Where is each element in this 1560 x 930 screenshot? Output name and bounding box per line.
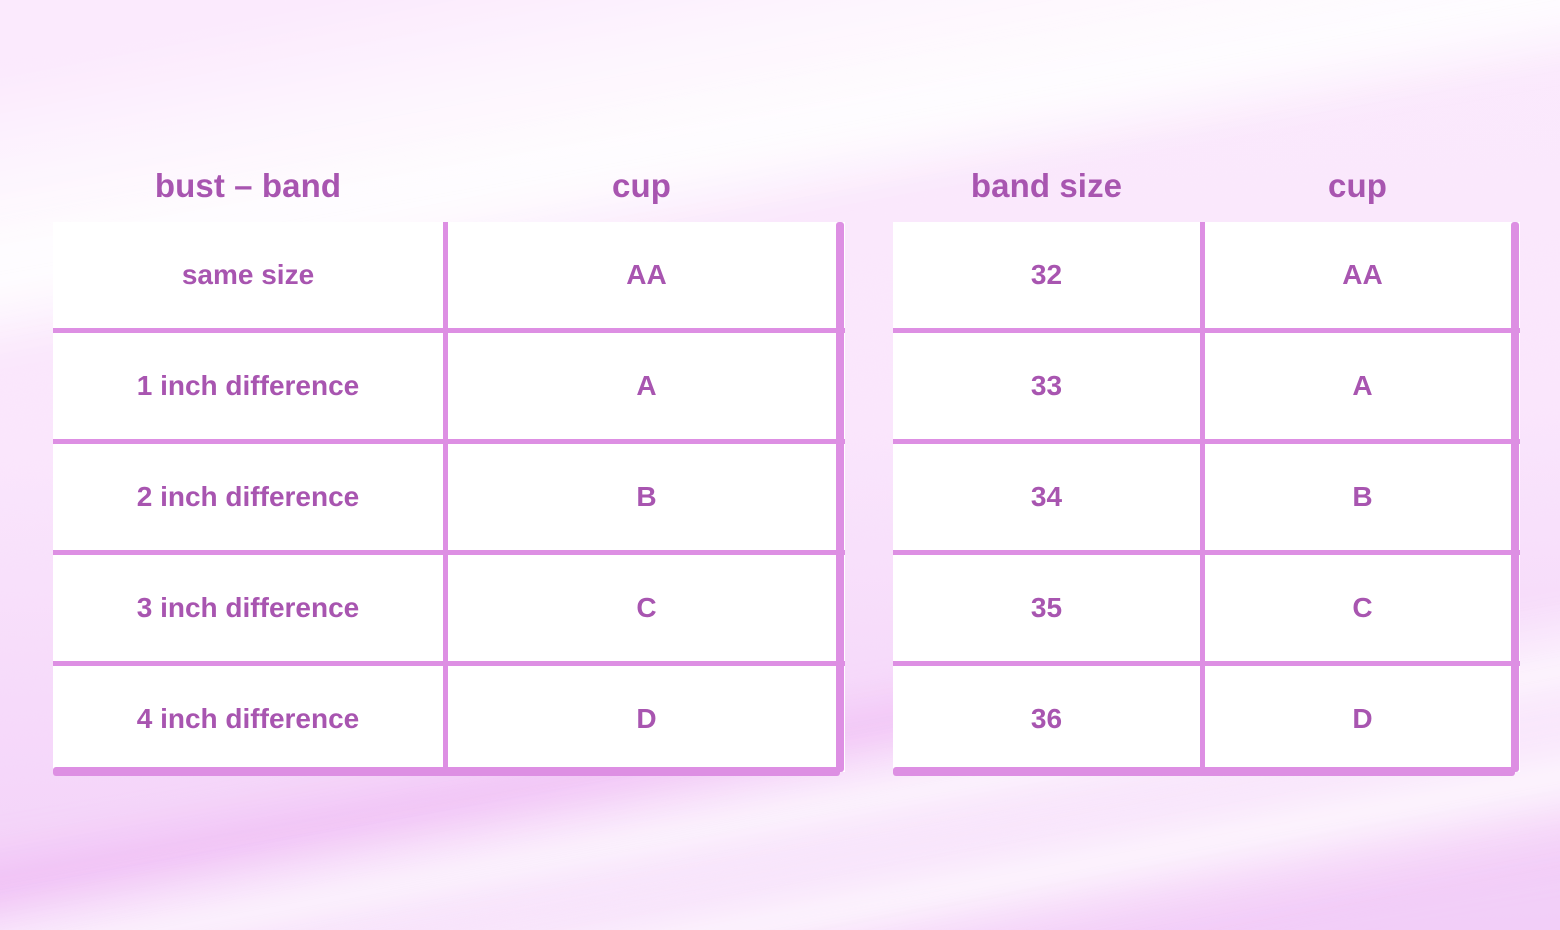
cell-bust-band-difference: 4 inch difference: [53, 664, 446, 773]
band-size-table-header: band size cup: [893, 150, 1515, 222]
table-row: 34 B: [893, 442, 1520, 553]
table-outer-right-edge: [836, 222, 844, 772]
cell-band-size: 35: [893, 553, 1203, 664]
bust-band-table: bust – band cup same size AA 1 inch diff…: [53, 150, 840, 772]
column-header-bust-band: bust – band: [53, 167, 443, 205]
column-header-cup: cup: [1200, 167, 1515, 205]
table-row: 1 inch difference A: [53, 331, 845, 442]
cell-band-size-cup: D: [1203, 664, 1521, 773]
cell-band-size: 33: [893, 331, 1203, 442]
cell-bust-band-difference: same size: [53, 222, 446, 331]
bust-band-grid: same size AA 1 inch difference A 2 inch …: [53, 222, 845, 772]
cell-band-size-cup: C: [1203, 553, 1521, 664]
bra-size-chart-page: bust – band cup same size AA 1 inch diff…: [0, 0, 1560, 930]
table-row: 3 inch difference C: [53, 553, 845, 664]
band-size-table-body-wrap: 32 AA 33 A 34 B 35 C 36 D: [893, 222, 1515, 772]
table-row: 35 C: [893, 553, 1520, 664]
table-row: 2 inch difference B: [53, 442, 845, 553]
cell-bust-band-cup: A: [446, 331, 846, 442]
table-outer-bottom-edge: [53, 767, 840, 776]
band-size-grid: 32 AA 33 A 34 B 35 C 36 D: [893, 222, 1520, 772]
cell-bust-band-cup: B: [446, 442, 846, 553]
cell-band-size-cup: AA: [1203, 222, 1521, 331]
cell-band-size: 36: [893, 664, 1203, 773]
table-row: 33 A: [893, 331, 1520, 442]
cell-bust-band-difference: 2 inch difference: [53, 442, 446, 553]
cell-band-size: 32: [893, 222, 1203, 331]
column-header-band-size: band size: [893, 167, 1200, 205]
cell-band-size: 34: [893, 442, 1203, 553]
cell-bust-band-cup: D: [446, 664, 846, 773]
cell-bust-band-difference: 3 inch difference: [53, 553, 446, 664]
band-size-table: band size cup 32 AA 33 A 34 B 35: [893, 150, 1515, 772]
cell-bust-band-cup: AA: [446, 222, 846, 331]
cell-band-size-cup: A: [1203, 331, 1521, 442]
bust-band-table-header: bust – band cup: [53, 150, 840, 222]
table-outer-bottom-edge: [893, 767, 1515, 776]
cell-bust-band-difference: 1 inch difference: [53, 331, 446, 442]
table-row: 32 AA: [893, 222, 1520, 331]
cell-bust-band-cup: C: [446, 553, 846, 664]
table-row: same size AA: [53, 222, 845, 331]
column-header-cup: cup: [443, 167, 840, 205]
table-row: 4 inch difference D: [53, 664, 845, 773]
table-row: 36 D: [893, 664, 1520, 773]
table-outer-right-edge: [1511, 222, 1519, 772]
cell-band-size-cup: B: [1203, 442, 1521, 553]
bust-band-table-body-wrap: same size AA 1 inch difference A 2 inch …: [53, 222, 840, 772]
